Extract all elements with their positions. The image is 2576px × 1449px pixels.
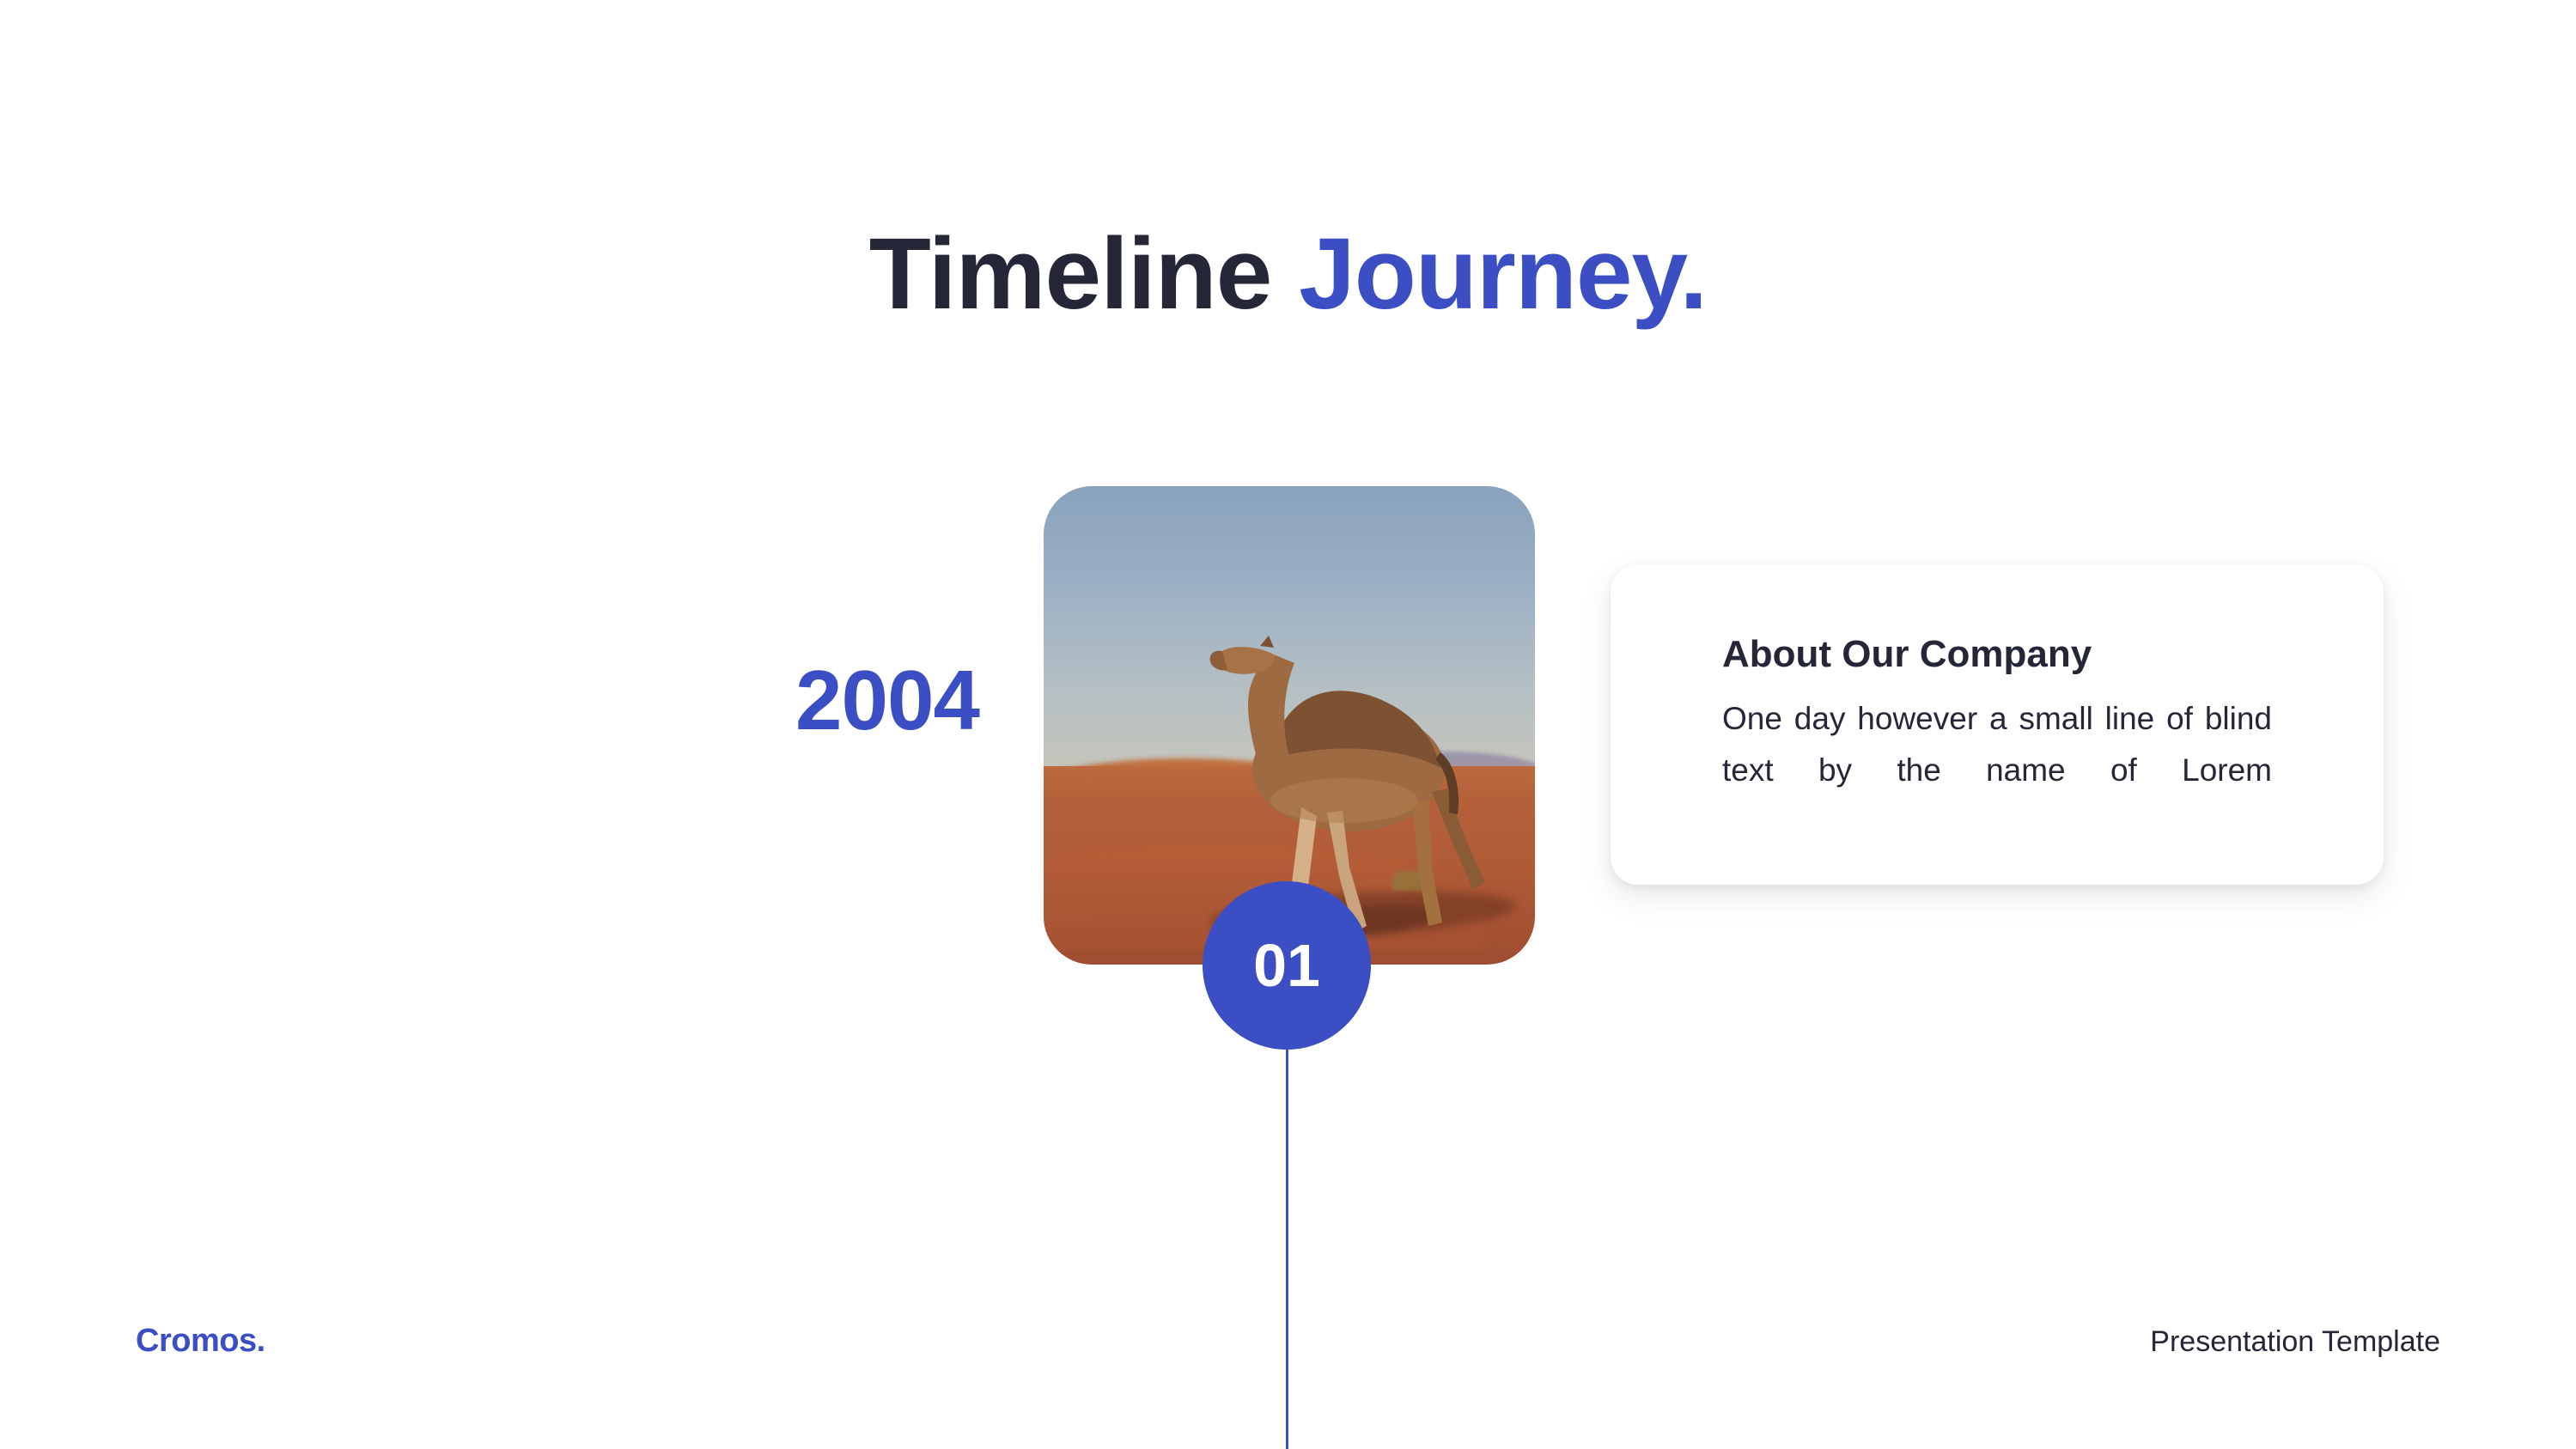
page-title-primary: Timeline bbox=[869, 217, 1299, 331]
info-card-heading: About Our Company bbox=[1722, 632, 2327, 678]
info-card-body: One day however a small line of blind te… bbox=[1722, 693, 2272, 848]
info-card: About Our Company One day however a smal… bbox=[1611, 565, 2384, 885]
timeline-connector-line bbox=[1286, 1050, 1288, 1449]
page-title: Timeline Journey. bbox=[0, 219, 2576, 331]
timeline-step-badge[interactable]: 01 bbox=[1203, 881, 1371, 1050]
page-title-accent: Journey. bbox=[1299, 217, 1707, 331]
presentation-slide: Timeline Journey. 2004 bbox=[0, 0, 2576, 1449]
timeline-year-label: 2004 bbox=[601, 658, 979, 742]
footer-note: Presentation Template bbox=[2150, 1327, 2440, 1356]
timeline-step-number: 01 bbox=[1253, 935, 1320, 995]
brand-logo[interactable]: Cromos. bbox=[136, 1324, 265, 1357]
